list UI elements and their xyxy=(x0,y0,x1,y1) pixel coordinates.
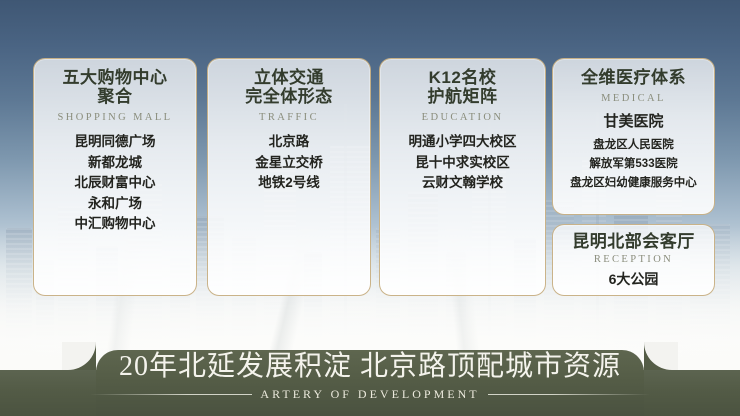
list-item: 地铁2号线 xyxy=(214,173,364,194)
list-item: 昆十中求实校区 xyxy=(386,153,539,174)
card-title: 全维医疗体系 xyxy=(559,68,708,87)
card-traffic[interactable]: 立体交通 完全体形态 TRAFFIC 北京路 金星立交桥 地铁2号线 xyxy=(207,58,371,296)
card-title: 昆明北部会客厅 xyxy=(559,232,708,251)
list-item: 北辰财富中心 xyxy=(40,173,190,194)
card-lead-item: 甘美医院 xyxy=(559,112,708,132)
list-item: 明通小学四大校区 xyxy=(386,132,539,153)
card-subtitle: TRAFFIC xyxy=(214,112,364,123)
card-item-list: 昆明同德广场 新都龙城 北辰财富中心 永和广场 中汇购物中心 xyxy=(40,132,190,235)
banner-rule-left xyxy=(90,394,252,395)
list-item: 云财文翰学校 xyxy=(386,173,539,194)
card-title: 立体交通 完全体形态 xyxy=(214,68,364,106)
banner-rule-right xyxy=(488,394,650,395)
card-lead-item: 6大公园 xyxy=(559,270,708,289)
list-item: 中汇购物中心 xyxy=(40,214,190,235)
list-item: 盘龙区妇幼健康服务中心 xyxy=(559,174,708,193)
card-reception[interactable]: 昆明北部会客厅 RECEPTION 6大公园 xyxy=(552,224,715,296)
list-item: 昆明同德广场 xyxy=(40,132,190,153)
card-item-list: 盘龙区人民医院 解放军第533医院 盘龙区妇幼健康服务中心 xyxy=(559,136,708,192)
banner-subtitle: ARTERY OF DEVELOPMENT xyxy=(260,387,479,402)
list-item: 解放军第533医院 xyxy=(559,155,708,174)
banner-title: 20年北延发展积淀 北京路顶配城市资源 xyxy=(119,352,621,383)
list-item: 永和广场 xyxy=(40,194,190,215)
card-title: K12名校 护航矩阵 xyxy=(386,68,539,106)
banner-subtitle-row: ARTERY OF DEVELOPMENT xyxy=(90,387,650,402)
list-item: 金星立交桥 xyxy=(214,153,364,174)
bottom-banner: 20年北延发展积淀 北京路顶配城市资源 ARTERY OF DEVELOPMEN… xyxy=(0,342,740,416)
card-item-list: 北京路 金星立交桥 地铁2号线 xyxy=(214,132,364,194)
card-subtitle: SHOPPING MALL xyxy=(40,112,190,123)
card-shopping-mall[interactable]: 五大购物中心 聚合 SHOPPING MALL 昆明同德广场 新都龙城 北辰财富… xyxy=(33,58,197,296)
list-item: 北京路 xyxy=(214,132,364,153)
card-education[interactable]: K12名校 护航矩阵 EDUCATION 明通小学四大校区 昆十中求实校区 云财… xyxy=(379,58,546,296)
card-title: 五大购物中心 聚合 xyxy=(40,68,190,106)
card-item-list: 明通小学四大校区 昆十中求实校区 云财文翰学校 xyxy=(386,132,539,194)
banner-content: 20年北延发展积淀 北京路顶配城市资源 ARTERY OF DEVELOPMEN… xyxy=(0,342,740,416)
list-item: 盘龙区人民医院 xyxy=(559,136,708,155)
card-medical[interactable]: 全维医疗体系 MEDICAL 甘美医院 盘龙区人民医院 解放军第533医院 盘龙… xyxy=(552,58,715,215)
card-subtitle: RECEPTION xyxy=(559,254,708,265)
card-subtitle: MEDICAL xyxy=(559,93,708,104)
slide-canvas: 五大购物中心 聚合 SHOPPING MALL 昆明同德广场 新都龙城 北辰财富… xyxy=(0,0,740,416)
card-subtitle: EDUCATION xyxy=(386,112,539,123)
list-item: 新都龙城 xyxy=(40,153,190,174)
